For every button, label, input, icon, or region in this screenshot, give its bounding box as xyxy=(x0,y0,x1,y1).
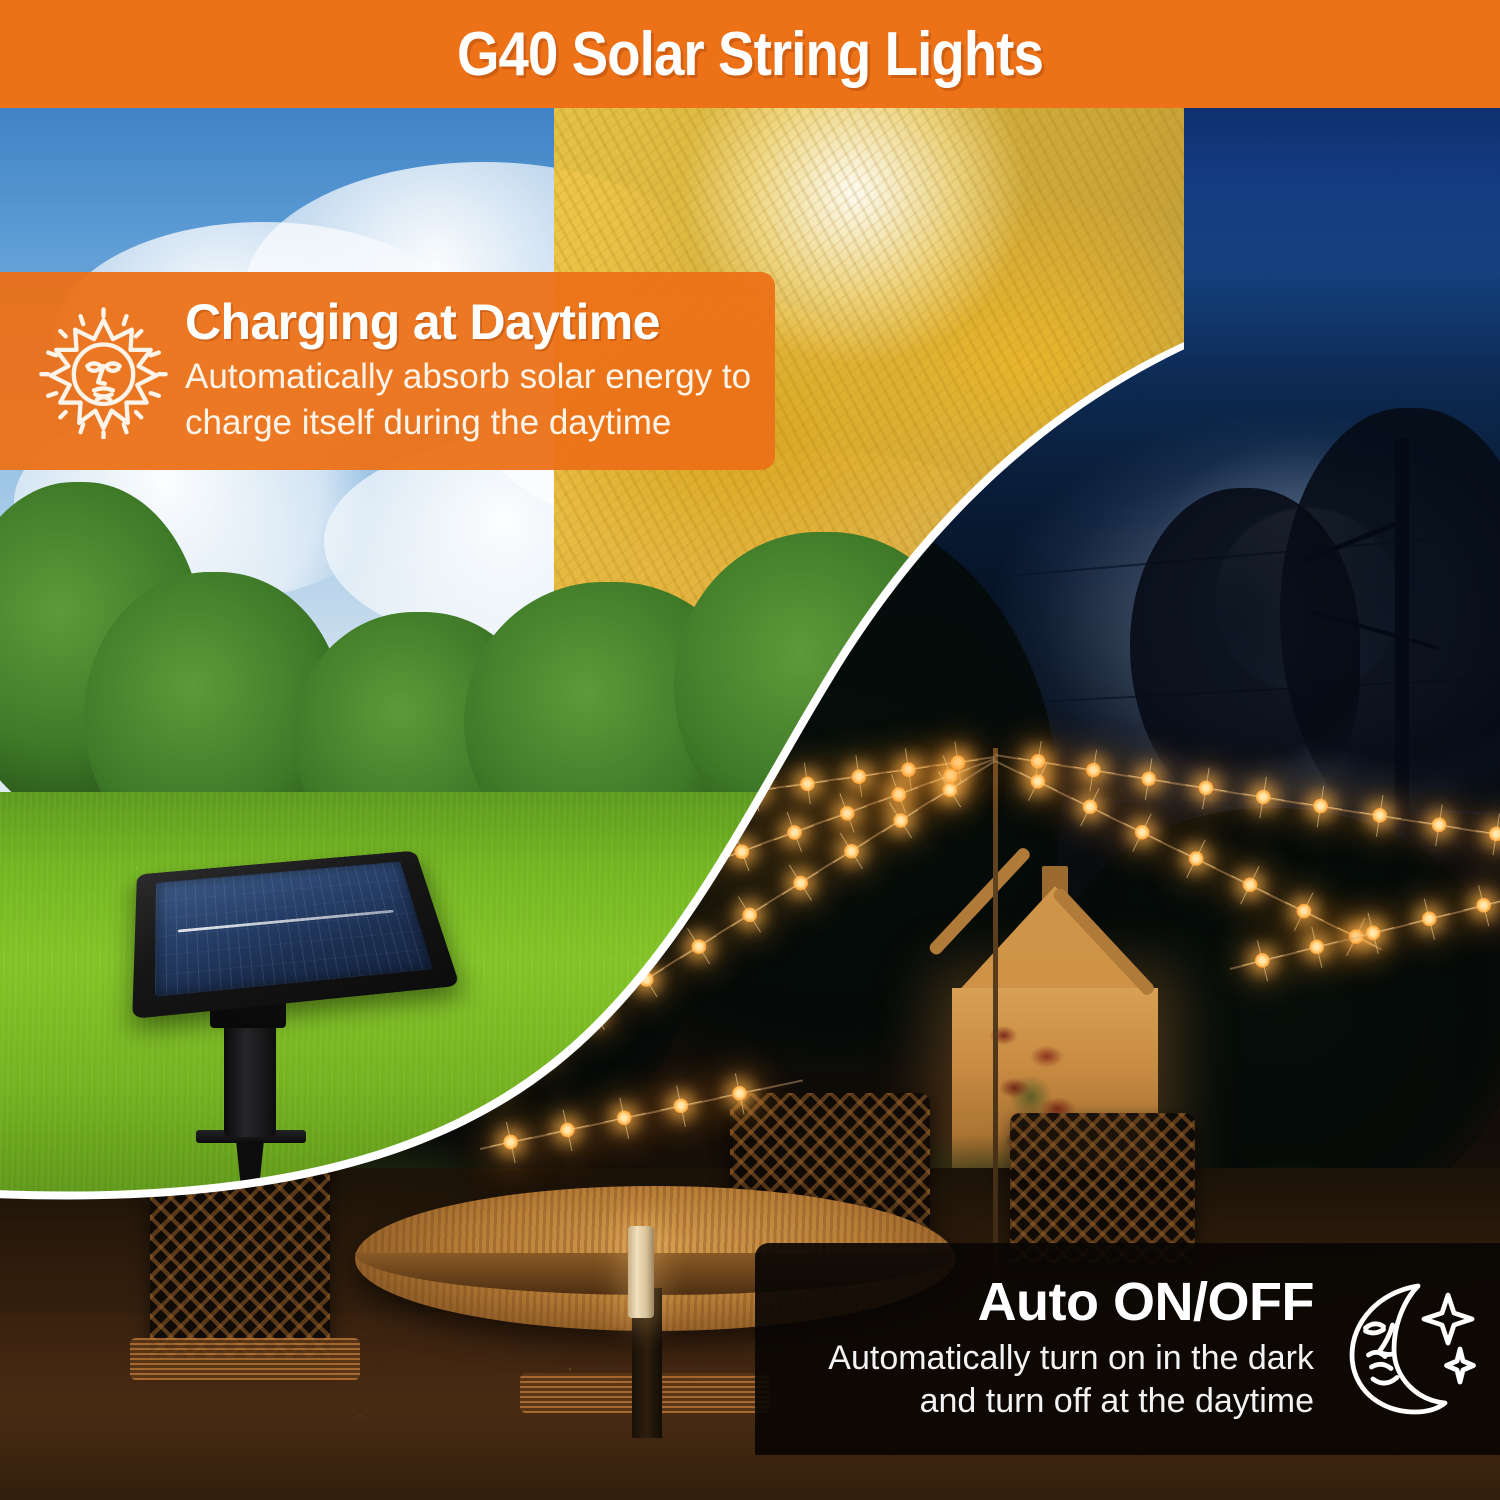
tree-silhouette xyxy=(1130,488,1360,818)
patio-chair-seat xyxy=(130,1338,360,1380)
panel-busbar xyxy=(178,909,394,932)
string-light-pole xyxy=(993,748,998,1308)
auto-callout-text: Auto ON/OFF Automatically turn on in the… xyxy=(755,1274,1328,1424)
candle xyxy=(628,1226,654,1318)
charging-callout-title: Charging at Daytime xyxy=(185,297,763,347)
auto-callout-title: Auto ON/OFF xyxy=(755,1274,1314,1331)
charging-at-daytime-callout: Charging at Daytime Automatically absorb… xyxy=(0,272,775,470)
solar-panel-frame xyxy=(132,851,460,1019)
auto-callout-line-1: Automatically turn on in the dark xyxy=(755,1337,1314,1381)
header-banner: G40 Solar String Lights xyxy=(0,0,1500,108)
charging-callout-line-2: charge itself during the daytime xyxy=(185,400,763,446)
page-title: G40 Solar String Lights xyxy=(457,19,1043,90)
charging-callout-line-1: Automatically absorb solar energy to xyxy=(185,354,763,400)
sun-face-icon xyxy=(36,304,171,439)
photo-stage: Charging at Daytime Automatically absorb… xyxy=(0,108,1500,1500)
solar-cells xyxy=(155,861,433,996)
auto-on-off-callout: Auto ON/OFF Automatically turn on in the… xyxy=(755,1243,1500,1455)
charging-callout-text: Charging at Daytime Automatically absorb… xyxy=(185,297,775,445)
product-marketing-image: G40 Solar String Lights xyxy=(0,0,1500,1500)
crescent-moon-face-icon xyxy=(1328,1274,1478,1424)
auto-callout-line-2: and turn off at the daytime xyxy=(755,1380,1314,1424)
patio-chair xyxy=(1010,1113,1195,1263)
